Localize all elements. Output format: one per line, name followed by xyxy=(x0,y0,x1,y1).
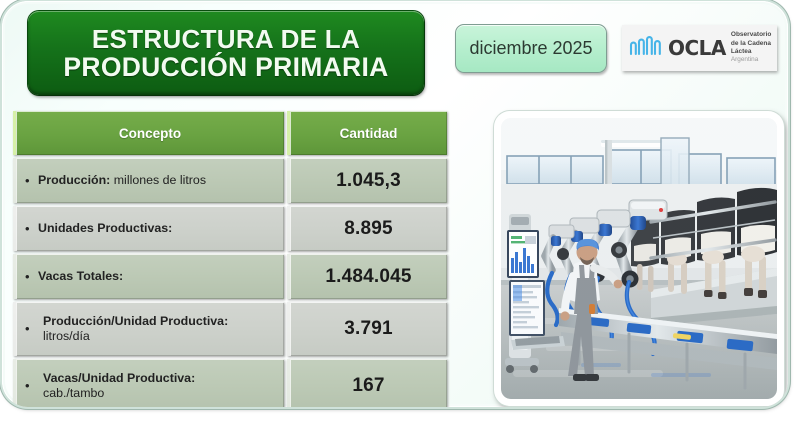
row-label: Vacas/Unidad Productiva xyxy=(43,371,191,385)
row-label: Producción/Unidad Productiva xyxy=(43,314,224,328)
cell-concepto: • Vacas/Unidad Productiva:cab./tambo xyxy=(13,359,284,407)
date-badge-label: diciembre 2025 xyxy=(469,38,592,59)
bullet-icon: • xyxy=(25,222,38,235)
row-label: Unidades Productivas xyxy=(38,221,168,235)
milking-parlour-photo xyxy=(501,118,777,399)
ocla-wordmark: OCLA xyxy=(668,36,726,60)
table-row: • Producción/Unidad Productiva:litros/dí… xyxy=(13,302,447,356)
milk-wave-icon xyxy=(629,36,663,61)
row-label: Vacas Totales xyxy=(38,269,119,283)
row-quantity: 1.484.045 xyxy=(290,254,447,299)
structure-table: Concepto Cantidad • Producción: millones… xyxy=(13,111,447,407)
row-label: Producción xyxy=(38,173,106,187)
cell-cantidad: 8.895 xyxy=(287,206,447,251)
date-badge: diciembre 2025 xyxy=(455,24,607,73)
column-header-concepto: Concepto xyxy=(13,111,284,155)
bullet-icon: • xyxy=(25,270,38,283)
cell-cantidad: 3.791 xyxy=(287,302,447,356)
row-quantity: 1.045,3 xyxy=(290,158,447,203)
row-separator: : xyxy=(119,269,123,283)
ocla-tagline-line-3: Argentina xyxy=(731,56,758,63)
cell-concepto: • Unidades Productivas: xyxy=(13,206,284,251)
table-row: • Vacas/Unidad Productiva:cab./tambo 167 xyxy=(13,359,447,407)
cell-concepto: • Vacas Totales: xyxy=(13,254,284,299)
title-line-2: PRODUCCIÓN PRIMARIA xyxy=(63,53,388,82)
row-unit: millones de litros xyxy=(110,173,206,187)
row-separator: : xyxy=(191,371,195,385)
table-row: • Unidades Productivas: 8.895 xyxy=(13,206,447,251)
row-separator: : xyxy=(224,314,228,328)
cell-cantidad: 1.045,3 xyxy=(287,158,447,203)
row-separator: : xyxy=(168,221,172,235)
cell-concepto: • Producción: millones de litros xyxy=(13,158,284,203)
table-row: • Producción: millones de litros 1.045,3 xyxy=(13,158,447,203)
cell-concepto: • Producción/Unidad Productiva:litros/dí… xyxy=(13,302,284,356)
cell-cantidad: 167 xyxy=(287,359,447,407)
row-quantity: 8.895 xyxy=(290,206,447,251)
ocla-tagline-line-1: Observatorio xyxy=(731,31,771,38)
slide-frame: ESTRUCTURA DE LA PRODUCCIÓN PRIMARIA dic… xyxy=(2,1,788,407)
row-quantity: 167 xyxy=(290,359,447,407)
table-row: • Vacas Totales: 1.484.045 xyxy=(13,254,447,299)
bullet-icon: • xyxy=(25,174,38,187)
photo-frame xyxy=(494,111,784,406)
column-header-cantidad: Cantidad xyxy=(287,111,447,155)
row-subtext: litros/día xyxy=(43,329,284,344)
cell-cantidad: 1.484.045 xyxy=(287,254,447,299)
ocla-tagline: Observatorio de la Cadena Láctea Argenti… xyxy=(731,31,771,64)
ocla-tagline-line-2: de la Cadena Láctea xyxy=(731,40,771,55)
ocla-logo: OCLA Observatorio de la Cadena Láctea Ar… xyxy=(622,25,777,71)
row-subtext: cab./tambo xyxy=(43,386,284,401)
row-quantity: 3.791 xyxy=(290,302,447,356)
page-title: ESTRUCTURA DE LA PRODUCCIÓN PRIMARIA xyxy=(28,11,424,95)
title-line-1: ESTRUCTURA DE LA xyxy=(92,25,360,53)
table-header-row: Concepto Cantidad xyxy=(13,111,447,155)
bullet-icon: • xyxy=(25,379,38,392)
bullet-icon: • xyxy=(25,322,38,335)
